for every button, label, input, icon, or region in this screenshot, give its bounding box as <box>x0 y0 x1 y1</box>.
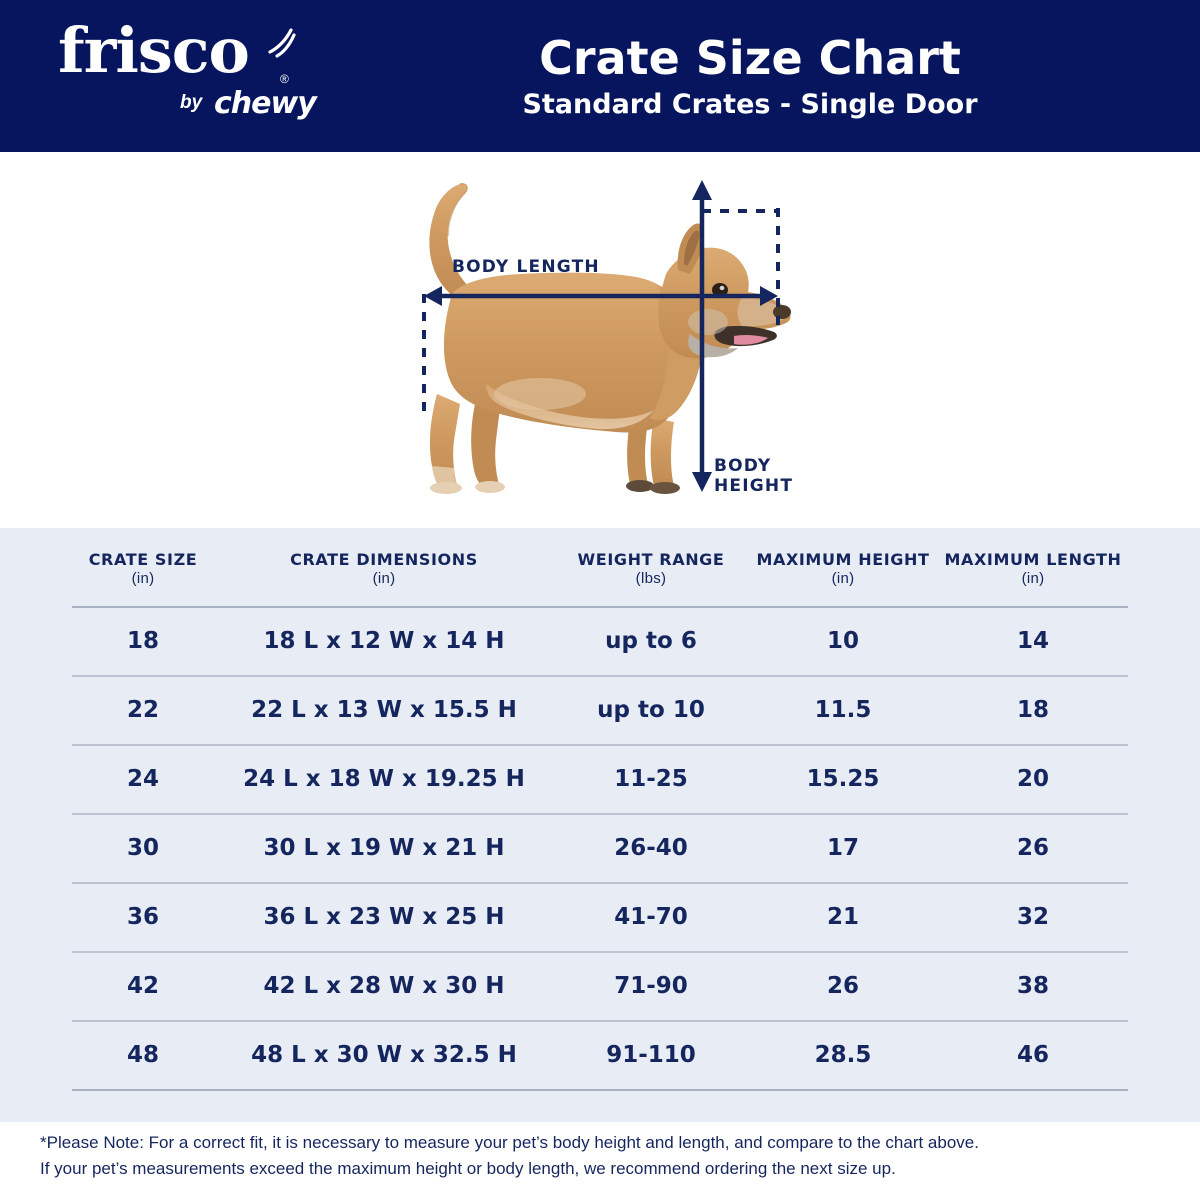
column-header-unit: (in) <box>940 570 1126 588</box>
cell-maximum-length: 32 <box>938 883 1128 952</box>
table-row: 22 22 L x 13 W x 15.5 H up to 10 11.5 18 <box>72 676 1128 745</box>
column-header-crate-dimensions: CRATE DIMENSIONS (in) <box>214 528 554 607</box>
crate-size-chart-page: frisco ® by chewy Crate Size Chart Stand… <box>0 0 1200 1200</box>
table-header-row: CRATE SIZE (in) CRATE DIMENSIONS (in) WE… <box>72 528 1128 607</box>
table-body: 18 18 L x 12 W x 14 H up to 6 10 14 22 2… <box>72 607 1128 1090</box>
cell-weight-range: up to 10 <box>554 676 748 745</box>
crate-size-table: CRATE SIZE (in) CRATE DIMENSIONS (in) WE… <box>72 528 1128 1091</box>
measurement-diagram-section: BODY LENGTH BODY HEIGHT <box>0 152 1200 528</box>
table-row: 24 24 L x 18 W x 19.25 H 11-25 15.25 20 <box>72 745 1128 814</box>
table-row: 30 30 L x 19 W x 21 H 26-40 17 26 <box>72 814 1128 883</box>
cell-weight-range: 71-90 <box>554 952 748 1021</box>
cell-crate-size: 36 <box>72 883 214 952</box>
column-header-maximum-height: MAXIMUM HEIGHT (in) <box>748 528 938 607</box>
cell-crate-size: 22 <box>72 676 214 745</box>
crate-size-table-section: CRATE SIZE (in) CRATE DIMENSIONS (in) WE… <box>0 528 1200 1122</box>
table-row: 36 36 L x 23 W x 25 H 41-70 21 32 <box>72 883 1128 952</box>
logo-wordmark: frisco <box>58 20 249 82</box>
cell-maximum-height: 10 <box>748 607 938 676</box>
column-header-label: MAXIMUM HEIGHT <box>756 550 929 569</box>
cell-crate-dimensions: 24 L x 18 W x 19.25 H <box>214 745 554 814</box>
cell-crate-size: 18 <box>72 607 214 676</box>
cell-maximum-height: 21 <box>748 883 938 952</box>
cell-crate-size: 24 <box>72 745 214 814</box>
table-row: 18 18 L x 12 W x 14 H up to 6 10 14 <box>72 607 1128 676</box>
cell-crate-dimensions: 18 L x 12 W x 14 H <box>214 607 554 676</box>
cell-weight-range: 26-40 <box>554 814 748 883</box>
cell-maximum-height: 17 <box>748 814 938 883</box>
cell-maximum-height: 11.5 <box>748 676 938 745</box>
registered-trademark-icon: ® <box>280 72 289 86</box>
column-header-unit: (in) <box>216 570 552 588</box>
column-header-label: MAXIMUM LENGTH <box>944 550 1121 569</box>
cell-maximum-length: 18 <box>938 676 1128 745</box>
cell-maximum-height: 15.25 <box>748 745 938 814</box>
column-header-unit: (in) <box>750 570 936 588</box>
cell-weight-range: 41-70 <box>554 883 748 952</box>
cell-maximum-length: 26 <box>938 814 1128 883</box>
body-height-label: BODY HEIGHT <box>714 456 793 496</box>
cell-crate-dimensions: 30 L x 19 W x 21 H <box>214 814 554 883</box>
cell-maximum-length: 20 <box>938 745 1128 814</box>
cell-crate-size: 48 <box>72 1021 214 1090</box>
column-header-crate-size: CRATE SIZE (in) <box>72 528 214 607</box>
column-header-unit: (in) <box>74 570 212 588</box>
footnote-line-1: *Please Note: For a correct fit, it is n… <box>40 1130 1160 1156</box>
column-header-unit: (lbs) <box>556 570 746 588</box>
cell-maximum-height: 28.5 <box>748 1021 938 1090</box>
footnote-line-2: If your pet’s measurements exceed the ma… <box>40 1156 1160 1182</box>
footnote: *Please Note: For a correct fit, it is n… <box>40 1130 1160 1183</box>
body-length-label: BODY LENGTH <box>452 257 600 277</box>
cell-crate-dimensions: 36 L x 23 W x 25 H <box>214 883 554 952</box>
cell-crate-size: 42 <box>72 952 214 1021</box>
page-subtitle: Standard Crates - Single Door <box>522 89 977 120</box>
table-row: 42 42 L x 28 W x 30 H 71-90 26 38 <box>72 952 1128 1021</box>
frisco-logo: frisco ® by chewy <box>58 20 318 132</box>
cell-crate-dimensions: 22 L x 13 W x 15.5 H <box>214 676 554 745</box>
dog-measurement-diagram: BODY LENGTH BODY HEIGHT <box>390 166 820 516</box>
cell-crate-size: 30 <box>72 814 214 883</box>
table-row: 48 48 L x 30 W x 32.5 H 91-110 28.5 46 <box>72 1021 1128 1090</box>
cell-maximum-height: 26 <box>748 952 938 1021</box>
page-title: Crate Size Chart <box>539 32 961 85</box>
cell-maximum-length: 38 <box>938 952 1128 1021</box>
header-title-block: Crate Size Chart Standard Crates - Singl… <box>300 0 1200 152</box>
page-header: frisco ® by chewy Crate Size Chart Stand… <box>0 0 1200 152</box>
cell-weight-range: 11-25 <box>554 745 748 814</box>
cell-crate-dimensions: 42 L x 28 W x 30 H <box>214 952 554 1021</box>
cell-weight-range: up to 6 <box>554 607 748 676</box>
logo-by-label: by <box>180 92 202 114</box>
cell-maximum-length: 14 <box>938 607 1128 676</box>
column-header-weight-range: WEIGHT RANGE (lbs) <box>554 528 748 607</box>
column-header-maximum-length: MAXIMUM LENGTH (in) <box>938 528 1128 607</box>
swoosh-icon <box>264 26 298 60</box>
cell-weight-range: 91-110 <box>554 1021 748 1090</box>
column-header-label: WEIGHT RANGE <box>578 550 725 569</box>
cell-maximum-length: 46 <box>938 1021 1128 1090</box>
cell-crate-dimensions: 48 L x 30 W x 32.5 H <box>214 1021 554 1090</box>
column-header-label: CRATE SIZE <box>89 550 198 569</box>
column-header-label: CRATE DIMENSIONS <box>290 550 478 569</box>
